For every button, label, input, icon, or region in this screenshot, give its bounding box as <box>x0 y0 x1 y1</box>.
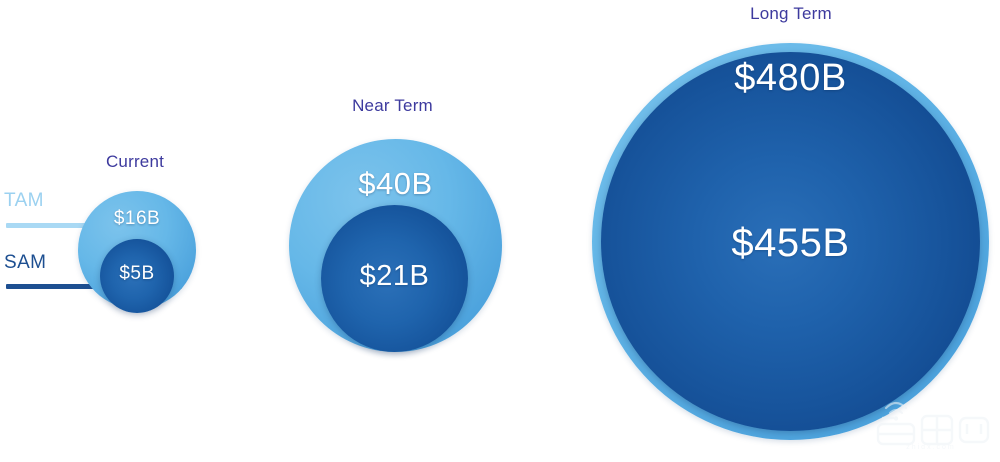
bubble-value-sam-near-term: $21B <box>321 260 468 293</box>
bubble-value-sam-current: $5B <box>100 263 174 285</box>
legend-label-tam: TAM <box>4 190 44 212</box>
bubble-group-near-term: $40B $21B <box>289 139 502 352</box>
watermark-subtext: zhidx.com <box>906 444 956 450</box>
group-title-near-term: Near Term <box>335 96 450 116</box>
bubble-chart-canvas: TAM SAM Current $16B $5B Near Term $40B … <box>0 0 1000 462</box>
bubble-value-sam-long-term: $455B <box>592 221 989 266</box>
bubble-group-long-term: $480B $455B <box>592 43 989 440</box>
legend-label-sam: SAM <box>4 252 46 274</box>
group-title-long-term: Long Term <box>730 4 852 24</box>
bubble-group-current: $16B $5B <box>78 191 196 309</box>
group-title-current: Current <box>80 152 190 172</box>
bubble-value-tam-near-term: $40B <box>289 166 502 202</box>
bubble-value-tam-long-term: $480B <box>592 57 989 100</box>
bubble-value-tam-current: $16B <box>78 208 196 230</box>
